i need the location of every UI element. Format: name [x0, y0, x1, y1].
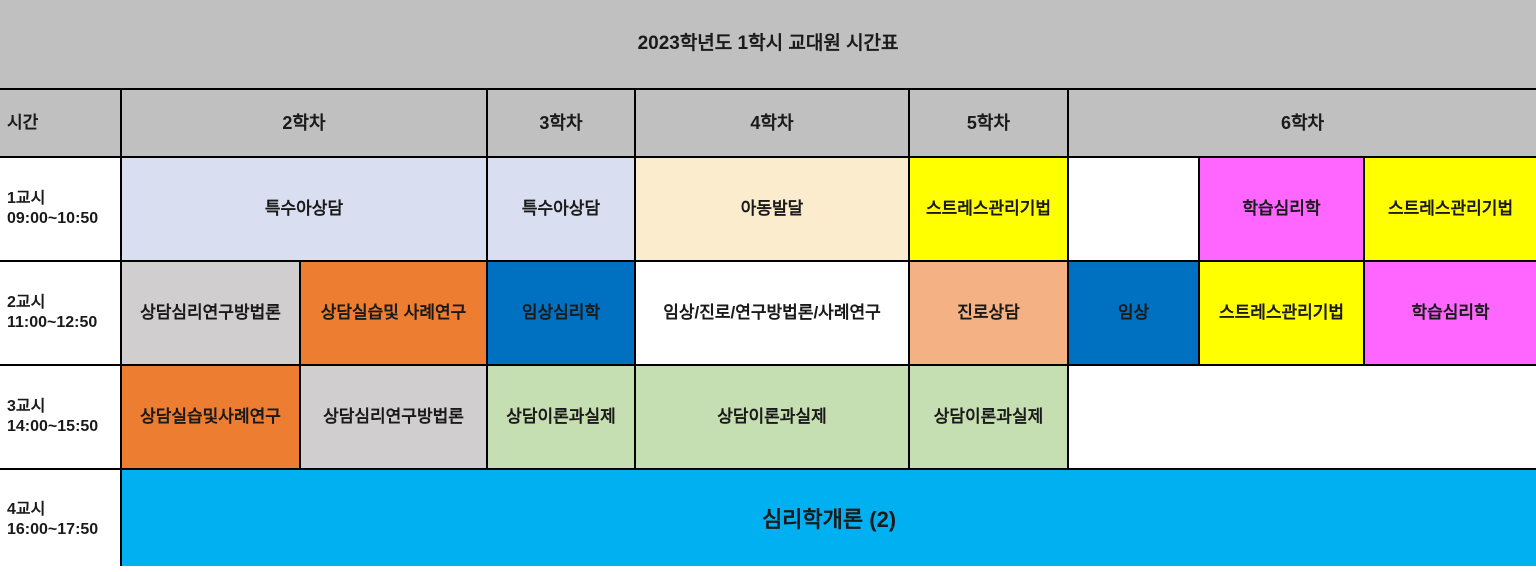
period-label-1: 1교시 09:00~10:50 [0, 157, 121, 261]
class-cell[interactable]: 임상 [1068, 261, 1199, 365]
class-cell[interactable]: 학습심리학 [1364, 261, 1536, 365]
class-cell[interactable]: 상담이론과실제 [909, 365, 1068, 469]
timetable-container: 2023학년도 1학시 교대원 시간표 시간 2학차 3학차 4학차 5학차 6… [0, 0, 1536, 572]
table-row: 2교시 11:00~12:50 상담심리연구방법론 상담실습및 사례연구 임상심… [0, 261, 1536, 365]
class-cell[interactable]: 임상/진로/연구방법론/사례연구 [635, 261, 909, 365]
column-header-row: 시간 2학차 3학차 4학차 5학차 6학차 [0, 89, 1536, 157]
bottom-strip [0, 566, 1536, 572]
table-row: 1교시 09:00~10:50 특수아상담 특수아상담 아동발달 스트레스관리기… [0, 157, 1536, 261]
empty-cell[interactable] [1068, 365, 1536, 469]
class-cell[interactable]: 스트레스관리기법 [909, 157, 1068, 261]
class-cell[interactable]: 진로상담 [909, 261, 1068, 365]
header-time: 시간 [0, 89, 121, 157]
class-cell[interactable]: 아동발달 [635, 157, 909, 261]
header-col-6: 6학차 [1068, 89, 1536, 157]
class-cell[interactable]: 특수아상담 [121, 157, 487, 261]
class-cell[interactable]: 상담심리연구방법론 [121, 261, 300, 365]
class-cell[interactable]: 상담심리연구방법론 [300, 365, 487, 469]
header-col-5: 5학차 [909, 89, 1068, 157]
page-title: 2023학년도 1학시 교대원 시간표 [0, 0, 1536, 89]
timetable: 2023학년도 1학시 교대원 시간표 시간 2학차 3학차 4학차 5학차 6… [0, 0, 1536, 572]
title-row: 2023학년도 1학시 교대원 시간표 [0, 0, 1536, 89]
class-cell[interactable]: 스트레스관리기법 [1364, 157, 1536, 261]
class-cell[interactable]: 상담이론과실제 [635, 365, 909, 469]
table-row: 4교시 16:00~17:50 심리학개론 (2) [0, 469, 1536, 571]
period-label-2: 2교시 11:00~12:50 [0, 261, 121, 365]
period-label-4: 4교시 16:00~17:50 [0, 469, 121, 571]
class-cell[interactable]: 스트레스관리기법 [1199, 261, 1364, 365]
class-cell[interactable]: 상담실습및 사례연구 [300, 261, 487, 365]
class-cell[interactable]: 임상심리학 [487, 261, 635, 365]
class-cell[interactable]: 학습심리학 [1199, 157, 1364, 261]
empty-cell[interactable] [1068, 157, 1199, 261]
period-label-3: 3교시 14:00~15:50 [0, 365, 121, 469]
table-row: 3교시 14:00~15:50 상담실습및사례연구 상담심리연구방법론 상담이론… [0, 365, 1536, 469]
class-cell[interactable]: 특수아상담 [487, 157, 635, 261]
header-col-2: 2학차 [121, 89, 487, 157]
header-col-4: 4학차 [635, 89, 909, 157]
class-cell[interactable]: 상담실습및사례연구 [121, 365, 300, 469]
class-cell[interactable]: 심리학개론 (2) [121, 469, 1536, 571]
class-cell[interactable]: 상담이론과실제 [487, 365, 635, 469]
header-col-3: 3학차 [487, 89, 635, 157]
